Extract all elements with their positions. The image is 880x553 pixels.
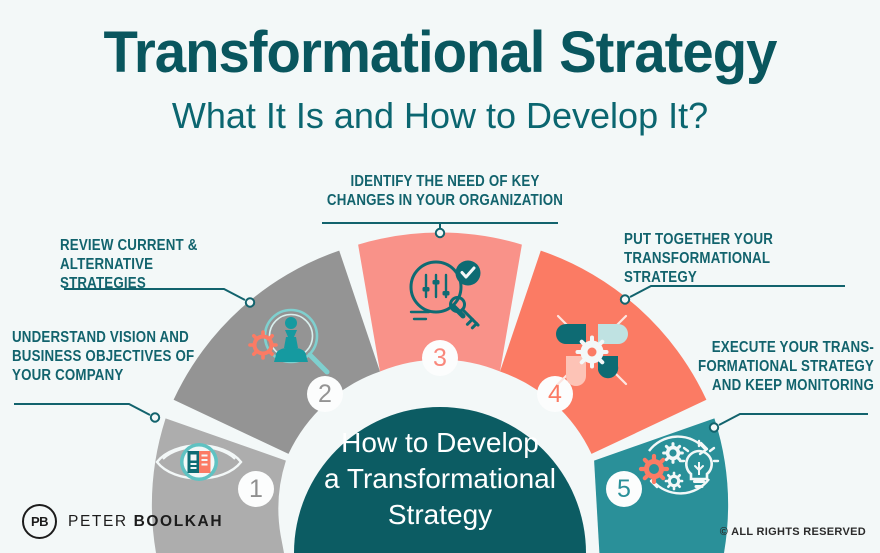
logo-monogram: PB	[22, 504, 57, 539]
step-label-1: UNDERSTAND VISION AND BUSINESS OBJECTIVE…	[12, 328, 210, 385]
step-number-5: 5	[617, 475, 631, 503]
step-label-1-line-1: UNDERSTAND VISION AND	[12, 328, 210, 347]
step-label-5-line-2: FORMATIONAL STRATEGY	[664, 357, 874, 376]
step-label-4-line-2: TRANSFORMATIONAL STRATEGY	[624, 249, 839, 287]
connector-4	[630, 286, 845, 297]
connector-dot-3	[436, 229, 444, 237]
step-label-2-line-1: REVIEW CURRENT &	[60, 236, 228, 255]
step-number-4: 4	[548, 380, 562, 408]
logo-lastname: BOOLKAH	[134, 513, 224, 530]
copyright-notice: © ALL RIGHTS RESERVED	[720, 526, 866, 538]
logo-wordmark: PETER BOOLKAH	[68, 513, 223, 531]
step-number-1: 1	[249, 475, 263, 503]
step-label-5-line-1: EXECUTE YOUR TRANS-	[664, 338, 874, 357]
brand-logo[interactable]: PB PETER BOOLKAH	[22, 504, 223, 539]
hub-line-2: a Transformational	[324, 463, 556, 494]
connector-5	[719, 414, 868, 425]
step-label-3-line-2: CHANGES IN YOUR ORGANIZATION	[320, 191, 569, 210]
step-label-4: PUT TOGETHER YOUR TRANSFORMATIONAL STRAT…	[624, 230, 839, 287]
step-label-4-line-1: PUT TOGETHER YOUR	[624, 230, 839, 249]
hub-line-1: How to Develop	[341, 427, 539, 458]
step-label-3-line-1: IDENTIFY THE NEED OF KEY	[320, 172, 569, 191]
step-label-5: EXECUTE YOUR TRANS- FORMATIONAL STRATEGY…	[664, 338, 874, 395]
connector-dot-5	[710, 423, 718, 431]
connector-dot-4	[621, 295, 629, 303]
logo-firstname: PETER	[68, 513, 134, 530]
connector-dot-2	[246, 298, 254, 306]
step-label-5-line-3: AND KEEP MONITORING	[664, 376, 874, 395]
step-label-1-line-3: YOUR COMPANY	[12, 366, 210, 385]
infographic-canvas: Transformational Strategy What It Is and…	[0, 0, 880, 553]
step-number-2: 2	[318, 380, 332, 408]
step-label-3: IDENTIFY THE NEED OF KEY CHANGES IN YOUR…	[320, 172, 569, 210]
connector-dot-1	[151, 413, 159, 421]
hub-line-3: Strategy	[388, 499, 492, 530]
step-label-2-line-2: ALTERNATIVE STRATEGIES	[60, 255, 228, 293]
connector-1	[14, 404, 150, 415]
step-number-3: 3	[433, 344, 447, 372]
step-label-2: REVIEW CURRENT & ALTERNATIVE STRATEGIES	[60, 236, 228, 293]
step-label-1-line-2: BUSINESS OBJECTIVES OF	[12, 347, 210, 366]
